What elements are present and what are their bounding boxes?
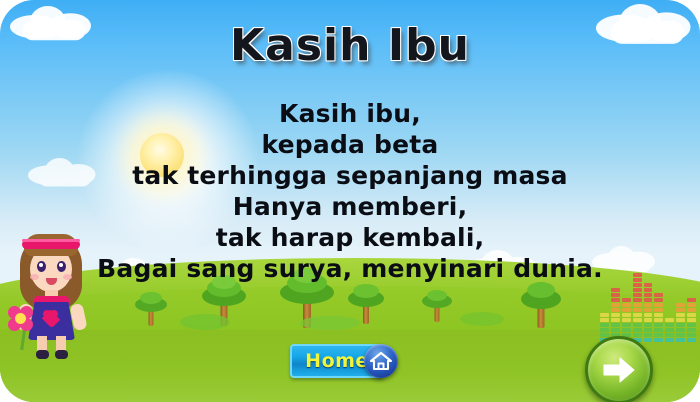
home-button-label: Home — [305, 350, 369, 372]
equalizer-segment — [633, 293, 642, 297]
equalizer-segment — [611, 318, 620, 322]
equalizer-segment — [633, 313, 642, 317]
equalizer-segment — [622, 323, 631, 327]
equalizer-segment — [644, 333, 653, 337]
bush-icon — [300, 316, 360, 330]
equalizer-segment — [633, 298, 642, 302]
equalizer-segment — [644, 293, 653, 297]
equalizer-segment — [654, 323, 663, 327]
equalizer-segment — [622, 318, 631, 322]
equalizer-segment — [644, 323, 653, 327]
equalizer-bar — [644, 283, 653, 342]
poem-line: Hanya memberi, — [0, 191, 700, 222]
equalizer-segment — [654, 298, 663, 302]
equalizer-bar — [654, 293, 663, 342]
equalizer-segment — [633, 308, 642, 312]
tree-icon — [132, 292, 170, 326]
equalizer-segment — [676, 318, 685, 322]
equalizer-segment — [633, 333, 642, 337]
equalizer-segment — [622, 328, 631, 332]
equalizer-segment — [622, 298, 631, 302]
equalizer-segment — [654, 318, 663, 322]
equalizer-bar — [611, 288, 620, 342]
equalizer-segment — [676, 313, 685, 317]
equalizer-segment — [687, 313, 696, 317]
app-screen: Kasih Ibu Kasih ibu, kepada beta tak ter… — [0, 0, 700, 402]
arrow-right-icon — [602, 355, 636, 385]
equalizer-segment — [600, 318, 609, 322]
bush-icon — [460, 312, 504, 326]
bush-icon — [180, 314, 230, 330]
equalizer-bar — [665, 318, 674, 342]
equalizer-segment — [611, 303, 620, 307]
equalizer-segment — [600, 333, 609, 337]
equalizer-bar — [687, 298, 696, 342]
equalizer-segment — [676, 308, 685, 312]
equalizer-segment — [676, 333, 685, 337]
equalizer-segment — [611, 298, 620, 302]
equalizer-segment — [622, 313, 631, 317]
poem-line: tak terhingga sepanjang masa — [0, 160, 700, 191]
equalizer-segment — [687, 303, 696, 307]
equalizer-segment — [687, 323, 696, 327]
equalizer-segment — [644, 338, 653, 342]
poem-text: Kasih ibu, kepada beta tak terhingga sep… — [0, 98, 700, 284]
equalizer-segment — [687, 328, 696, 332]
equalizer-segment — [654, 333, 663, 337]
equalizer-segment — [687, 318, 696, 322]
equalizer-segment — [654, 338, 663, 342]
tree-icon — [420, 290, 454, 322]
equalizer-segment — [687, 308, 696, 312]
equalizer-segment — [644, 303, 653, 307]
tree-icon — [516, 282, 566, 328]
equalizer-segment — [654, 308, 663, 312]
equalizer-segment — [665, 338, 674, 342]
equalizer-segment — [676, 328, 685, 332]
equalizer-segment — [611, 308, 620, 312]
equalizer-segment — [654, 313, 663, 317]
house-icon[interactable] — [364, 344, 398, 378]
equalizer-segment — [611, 288, 620, 292]
page-title: Kasih Ibu — [0, 20, 700, 71]
equalizer-segment — [600, 313, 609, 317]
equalizer-segment — [611, 323, 620, 327]
equalizer-segment — [676, 303, 685, 307]
poem-line: kepada beta — [0, 129, 700, 160]
equalizer-segment — [654, 293, 663, 297]
equalizer-segment — [676, 323, 685, 327]
equalizer-segment — [611, 313, 620, 317]
equalizer-segment — [622, 303, 631, 307]
equalizer-segment — [665, 328, 674, 332]
equalizer-segment — [687, 298, 696, 302]
equalizer-segment — [611, 328, 620, 332]
equalizer-segment — [644, 288, 653, 292]
equalizer-segment — [622, 308, 631, 312]
equalizer-segment — [611, 293, 620, 297]
equalizer-segment — [687, 333, 696, 337]
equalizer-segment — [654, 303, 663, 307]
equalizer-segment — [644, 298, 653, 302]
poem-line: Kasih ibu, — [0, 98, 700, 129]
equalizer-segment — [676, 338, 685, 342]
equalizer-segment — [633, 288, 642, 292]
equalizer-segment — [633, 328, 642, 332]
equalizer-segment — [633, 323, 642, 327]
poem-line: Bagai sang surya, menyinari dunia. — [0, 253, 700, 284]
equalizer-bar — [676, 303, 685, 342]
equalizer-segment — [665, 333, 674, 337]
equalizer-segment — [644, 328, 653, 332]
equalizer-segment — [644, 313, 653, 317]
equalizer-segment — [600, 328, 609, 332]
equalizer-segment — [644, 308, 653, 312]
equalizer-segment — [687, 338, 696, 342]
equalizer-segment — [600, 323, 609, 327]
equalizer-segment — [665, 318, 674, 322]
equalizer-segment — [644, 318, 653, 322]
equalizer-segment — [633, 318, 642, 322]
equalizer-segment — [654, 328, 663, 332]
next-button[interactable] — [585, 336, 653, 402]
scene-background: Kasih Ibu Kasih ibu, kepada beta tak ter… — [0, 0, 700, 402]
equalizer-segment — [633, 303, 642, 307]
equalizer-segment — [665, 323, 674, 327]
poem-line: tak harap kembali, — [0, 222, 700, 253]
